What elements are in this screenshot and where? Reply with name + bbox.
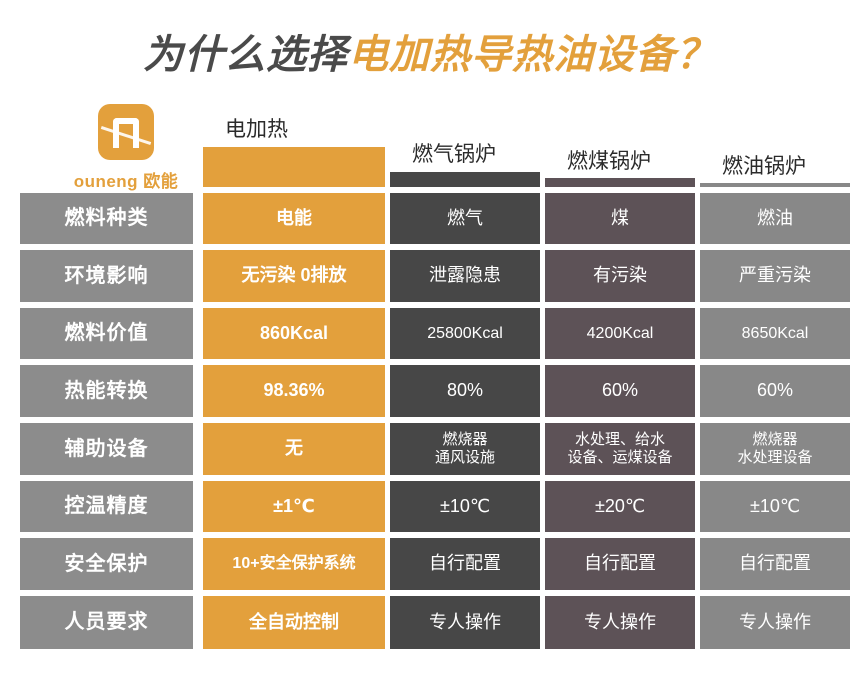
table-cell: 860Kcal [203,308,385,359]
row-label: 环境影响 [20,250,193,302]
table-cell: 燃烧器 通风设施 [390,423,540,475]
table-cell: 专人操作 [390,596,540,649]
table-cell: 全自动控制 [203,596,385,649]
table-cell: 严重污染 [700,250,850,302]
table-cell: 8650Kcal [700,308,850,359]
column-header-block-oil [700,183,850,187]
column-header-block-coal [545,178,695,187]
table-cell: ±10℃ [700,481,850,532]
table-cell: 80% [390,365,540,417]
column-header-block-electric [203,147,385,187]
table-cell: 燃气 [390,193,540,244]
column-header-gas: 燃气锅炉 [412,138,496,168]
table-cell: 专人操作 [700,596,850,649]
row-label: 安全保护 [20,538,193,590]
table-cell: 自行配置 [545,538,695,590]
column-header-electric: 电加热 [225,113,288,143]
column-header-block-gas [390,172,540,187]
table-cell: 有污染 [545,250,695,302]
table-cell: ±10℃ [390,481,540,532]
comparison-table: 电加热燃气锅炉燃煤锅炉燃油锅炉燃料种类电能燃气煤燃油环境影响无污染 0排放泄露隐… [0,0,860,677]
table-cell: 98.36% [203,365,385,417]
row-label: 燃料种类 [20,193,193,244]
table-cell: 专人操作 [545,596,695,649]
table-cell: ±1℃ [203,481,385,532]
table-cell: 无污染 0排放 [203,250,385,302]
column-header-oil: 燃油锅炉 [722,150,806,180]
table-cell: 25800Kcal [390,308,540,359]
table-cell: 燃烧器 水处理设备 [700,423,850,475]
table-cell: 自行配置 [700,538,850,590]
table-cell: 自行配置 [390,538,540,590]
table-cell: 60% [545,365,695,417]
table-cell: 电能 [203,193,385,244]
table-cell: ±20℃ [545,481,695,532]
row-label: 辅助设备 [20,423,193,475]
row-label: 燃料价值 [20,308,193,359]
column-header-coal: 燃煤锅炉 [567,145,651,175]
table-cell: 60% [700,365,850,417]
table-cell: 4200Kcal [545,308,695,359]
table-cell: 燃油 [700,193,850,244]
table-cell: 泄露隐患 [390,250,540,302]
row-label: 热能转换 [20,365,193,417]
table-cell: 煤 [545,193,695,244]
row-label: 控温精度 [20,481,193,532]
table-cell: 无 [203,423,385,475]
row-label: 人员要求 [20,596,193,649]
table-cell: 水处理、给水 设备、运煤设备 [545,423,695,475]
table-cell: 10+安全保护系统 [203,538,385,590]
